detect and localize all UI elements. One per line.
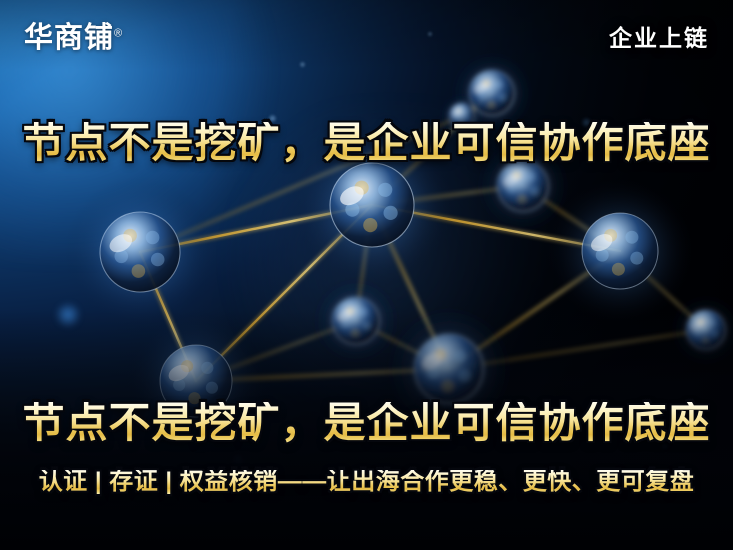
brand-logo[interactable]: 华商铺® xyxy=(24,14,123,56)
subline: 认证 | 存证 | 权益核销——让出海合作更稳、更快、更可复盘 认证 | 存证 … xyxy=(0,470,733,494)
registered-trademark-icon: ® xyxy=(114,27,123,39)
headline-bottom-text: 节点不是挖矿，是企业可信协作底座 xyxy=(22,402,710,444)
promo-poster: 华商铺® 企业上链 节点不是挖矿，是企业可信协作底座 节点不是挖矿，是企业可信协… xyxy=(0,0,733,550)
brand-name: 华商铺 xyxy=(24,22,114,54)
header-tagline: 企业上链 xyxy=(609,19,709,53)
headline-top-text: 节点不是挖矿，是企业可信协作底座 xyxy=(22,122,710,164)
subline-text: 认证 | 存证 | 权益核销——让出海合作更稳、更快、更可复盘 xyxy=(39,470,695,494)
headline-bottom: 节点不是挖矿，是企业可信协作底座 节点不是挖矿，是企业可信协作底座 xyxy=(0,402,733,444)
headline-top: 节点不是挖矿，是企业可信协作底座 节点不是挖矿，是企业可信协作底座 xyxy=(0,122,733,164)
